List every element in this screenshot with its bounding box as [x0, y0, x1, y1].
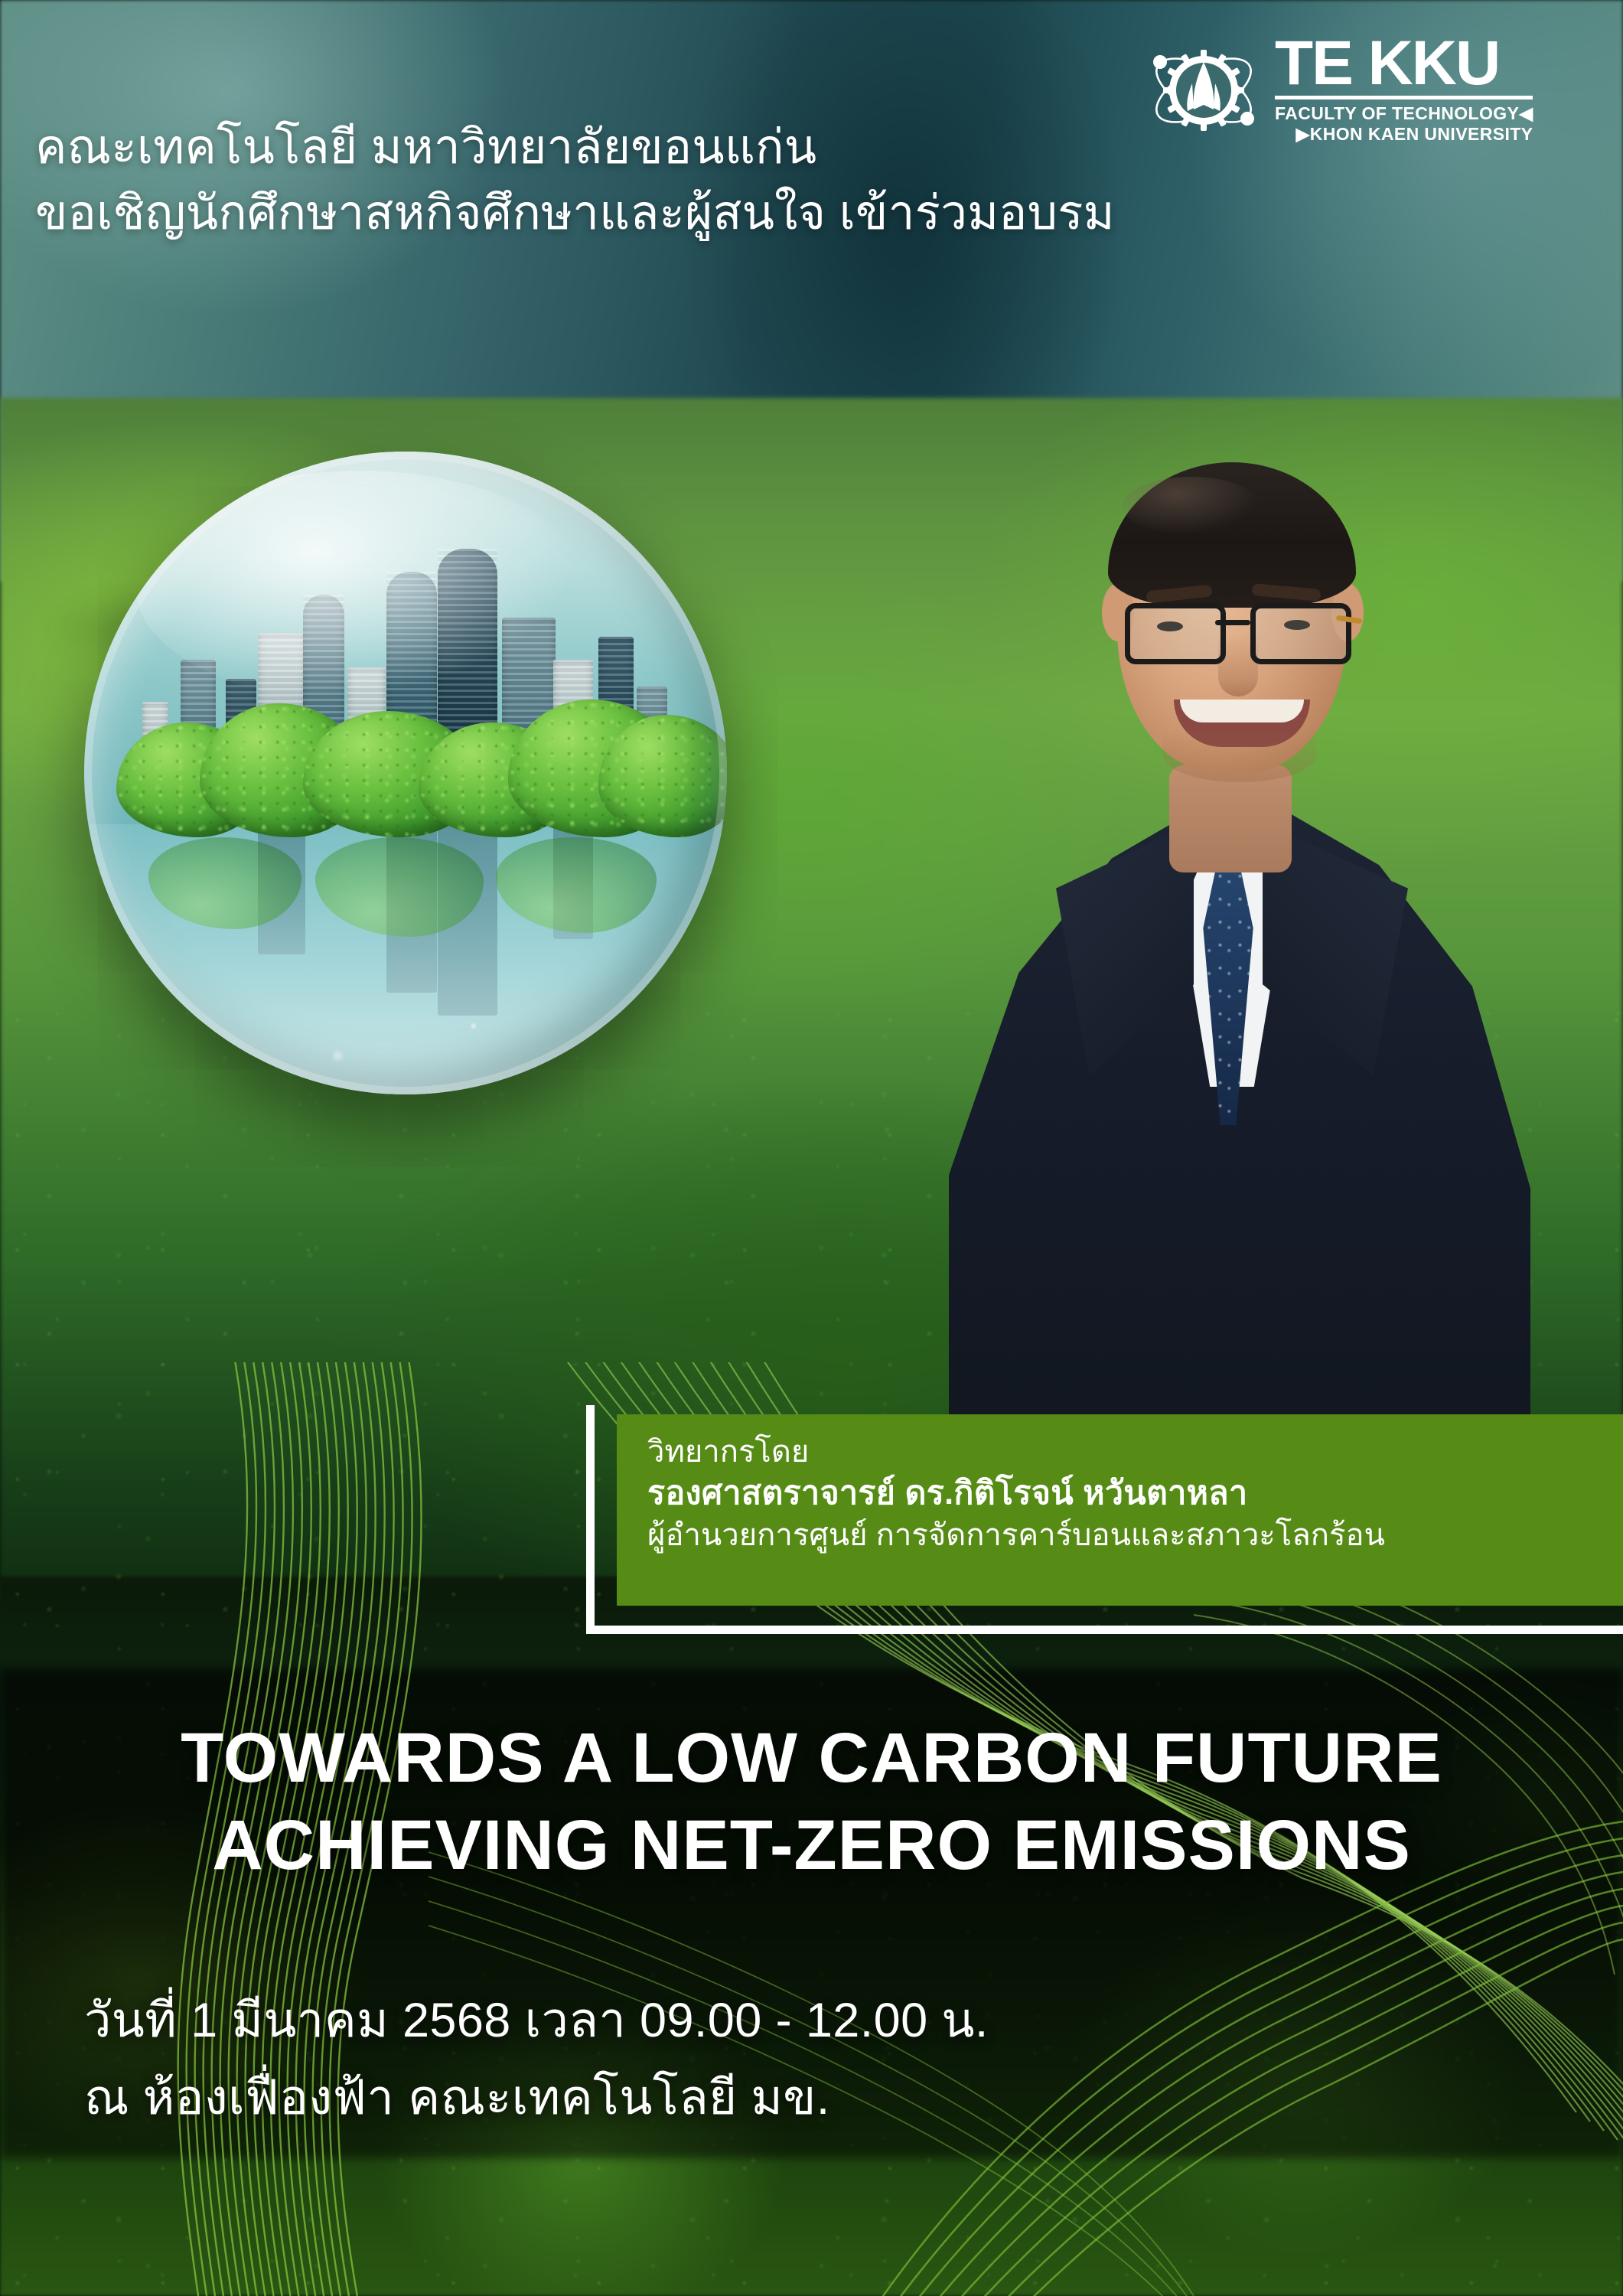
- eyeglass-lens-left: [1125, 603, 1226, 664]
- glass-sphere-graphic: [84, 452, 727, 1094]
- logo-wordmark: TE KKU: [1275, 36, 1499, 91]
- speaker-lead-label: วิทยากรโดย: [647, 1434, 1600, 1470]
- event-details-block: วันที่ 1 มีนาคม 2568 เวลา 09.00 - 12.00 …: [84, 1982, 1538, 2137]
- speaker-role: ผู้อำนวยการศูนย์ การจัดการคาร์บอนและสภาว…: [647, 1517, 1600, 1554]
- portrait-chin-shadow: [1163, 729, 1316, 782]
- header-line-2: ขอเชิญนักศึกษาสหกิจศึกษาและผู้สนใจ เข้าร…: [35, 181, 1061, 246]
- main-title-block: TOWARDS A LOW CARBON FUTURE ACHIEVING NE…: [0, 1714, 1623, 1889]
- speaker-portrait-photo: [865, 383, 1569, 1477]
- sphere-rim-light: [84, 452, 727, 1094]
- logo-wordmark-block: TE KKU FACULTY OF TECHNOLOGY◀ ▶KHON KAEN…: [1275, 36, 1533, 145]
- gear-atom-icon: [1146, 33, 1261, 148]
- portrait-teeth: [1180, 700, 1304, 722]
- main-title-line-2: ACHIEVING NET-ZERO EMISSIONS: [0, 1802, 1623, 1889]
- event-datetime: วันที่ 1 มีนาคม 2568 เวลา 09.00 - 12.00 …: [84, 1982, 1538, 2060]
- speaker-info-box: วิทยากรโดย รองศาสตราจารย์ ดร.กิติโรจน์ ห…: [617, 1414, 1623, 1606]
- logo-divider: [1275, 96, 1533, 99]
- sphere-body: [84, 452, 727, 1094]
- speaker-info-content: วิทยากรโดย รองศาสตราจารย์ ดร.กิติโรจน์ ห…: [647, 1434, 1600, 1554]
- tekku-logo: TE KKU FACULTY OF TECHNOLOGY◀ ▶KHON KAEN…: [1146, 29, 1605, 152]
- eyeglass-bridge: [1215, 620, 1250, 625]
- logo-university-line: ▶KHON KAEN UNIVERSITY: [1296, 124, 1533, 145]
- header-line-1: คณะเทคโนโลยี มหาวิทยาลัยขอนแก่น: [35, 115, 1061, 181]
- header-text-block: คณะเทคโนโลยี มหาวิทยาลัยขอนแก่น ขอเชิญนั…: [35, 115, 1061, 246]
- poster-canvas: คณะเทคโนโลยี มหาวิทยาลัยขอนแก่น ขอเชิญนั…: [0, 0, 1623, 2296]
- portrait-hair: [1108, 462, 1356, 608]
- eyeglasses-icon: [1125, 603, 1341, 660]
- logo-faculty-line: FACULTY OF TECHNOLOGY◀: [1275, 103, 1533, 124]
- event-venue: ณ ห้องเฟื่องฟ้า คณะเทคโนโลยี มข.: [84, 2060, 1538, 2137]
- speaker-name: รองศาสตราจารย์ ดร.กิติโรจน์ หวันตาหลา: [647, 1470, 1600, 1517]
- main-title-line-1: TOWARDS A LOW CARBON FUTURE: [0, 1714, 1623, 1802]
- eyeglass-lens-right: [1250, 603, 1351, 664]
